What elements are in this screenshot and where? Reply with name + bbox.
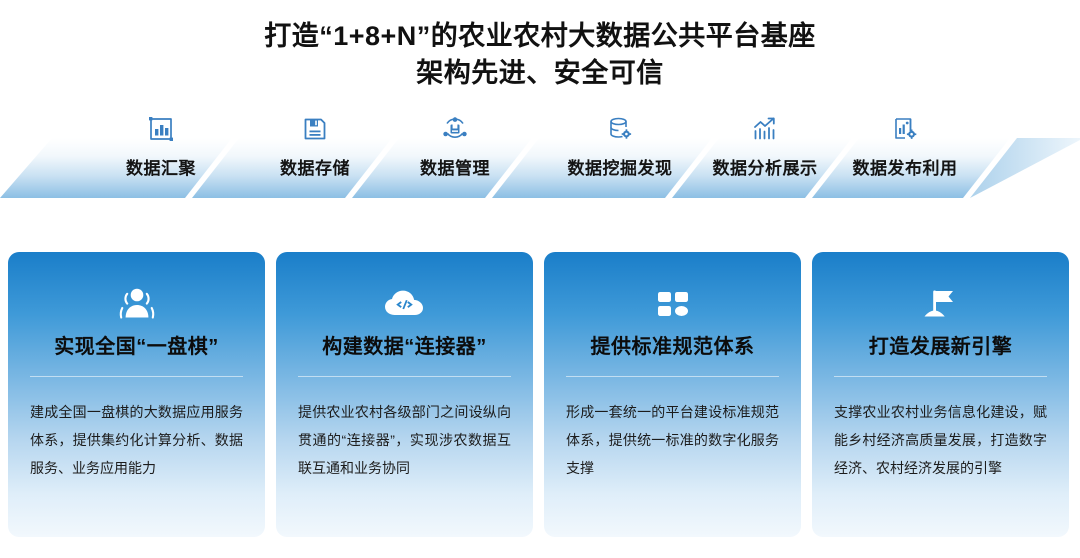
- people-icon: [8, 252, 265, 320]
- feature-card-body: 支撑农业农村业务信息化建设，赋能乡村经济高质量发展，打造数字经济、农村经济发展的…: [834, 398, 1047, 482]
- feature-card-title: 构建数据“连接器”: [276, 330, 533, 359]
- process-step-1[interactable]: 数据汇聚: [96, 110, 226, 202]
- cloud-code-icon: [276, 252, 533, 320]
- grid-blocks-icon: [544, 252, 801, 320]
- page-title: 打造“1+8+N”的农业农村大数据公共平台基座 架构先进、安全可信: [0, 0, 1080, 93]
- process-step-label: 数据汇聚: [96, 154, 226, 179]
- feature-card-2[interactable]: 构建数据“连接器” 提供农业农村各级部门之间设纵向贯通的“连接器”，实现涉农数据…: [276, 252, 533, 537]
- feature-card-3[interactable]: 提供标准规范体系 形成一套统一的平台建设标准规范体系，提供统一标准的数字化服务支…: [544, 252, 801, 537]
- database-network-icon: [390, 112, 520, 146]
- feature-card-title: 实现全国“一盘棋”: [8, 330, 265, 359]
- process-bar: 数据汇聚 数据存储: [0, 110, 1080, 202]
- feature-card-4[interactable]: 打造发展新引擎 支撑农业农村业务信息化建设，赋能乡村经济高质量发展，打造数字经济…: [812, 252, 1069, 537]
- title-line-1: 打造“1+8+N”的农业农村大数据公共平台基座: [0, 18, 1080, 55]
- process-step-2[interactable]: 数据存储: [250, 110, 380, 202]
- card-divider: [834, 376, 1047, 377]
- bar-chart-frame-icon: [96, 112, 226, 146]
- feature-card-1[interactable]: 实现全国“一盘棋” 建成全国一盘棋的大数据应用服务体系，提供集约化计算分析、数据…: [8, 252, 265, 537]
- feature-card-body: 建成全国一盘棋的大数据应用服务体系，提供集约化计算分析、数据服务、业务应用能力: [30, 398, 243, 482]
- card-divider: [566, 376, 779, 377]
- feature-cards-row: 实现全国“一盘棋” 建成全国一盘棋的大数据应用服务体系，提供集约化计算分析、数据…: [8, 252, 1072, 537]
- flag-icon: [812, 252, 1069, 320]
- title-line-2: 架构先进、安全可信: [0, 55, 1080, 92]
- process-step-3[interactable]: 数据管理: [390, 110, 520, 202]
- card-divider: [30, 376, 243, 377]
- floppy-disk-icon: [250, 112, 380, 146]
- process-step-6[interactable]: 数据发布利用: [815, 110, 995, 202]
- feature-card-title: 打造发展新引擎: [812, 330, 1069, 359]
- process-step-label: 数据存储: [250, 154, 380, 179]
- feature-card-body: 提供农业农村各级部门之间设纵向贯通的“连接器”，实现涉农数据互联互通和业务协同: [298, 398, 511, 482]
- feature-card-body: 形成一套统一的平台建设标准规范体系，提供统一标准的数字化服务支撑: [566, 398, 779, 482]
- report-gear-icon: [815, 112, 995, 146]
- card-divider: [298, 376, 511, 377]
- process-step-label: 数据发布利用: [815, 154, 995, 179]
- feature-card-title: 提供标准规范体系: [544, 330, 801, 359]
- process-step-label: 数据管理: [390, 154, 520, 179]
